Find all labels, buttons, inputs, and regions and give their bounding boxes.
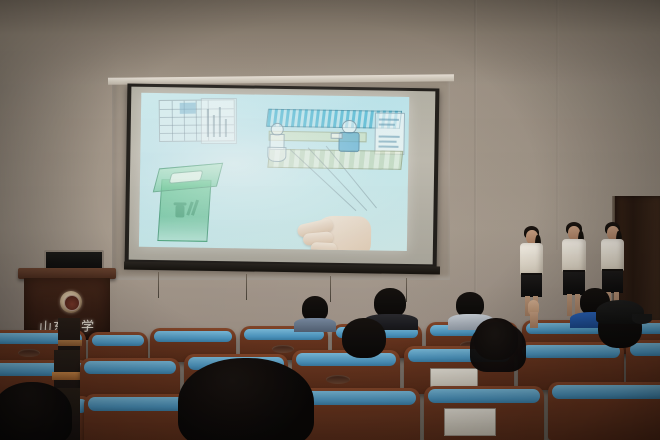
audience-member-with-cap xyxy=(592,300,650,350)
seat-row-near[interactable] xyxy=(548,382,660,440)
seat-plate xyxy=(326,375,350,384)
seat-plate xyxy=(18,349,40,357)
seat-cushion xyxy=(552,385,660,399)
presenter-leg xyxy=(567,294,572,316)
audience-head xyxy=(342,318,386,358)
tally-chart-sketch xyxy=(201,98,237,144)
customer-figure xyxy=(266,123,287,167)
presenter-shirt xyxy=(520,243,543,275)
university-crest-icon xyxy=(60,291,82,313)
market-stall-sketch xyxy=(262,105,409,179)
foreground-audience-head xyxy=(178,358,314,440)
seat-number-card xyxy=(444,408,496,436)
ceiling-shadow xyxy=(0,0,660,86)
desk-edge xyxy=(58,340,82,346)
presenter-shirt xyxy=(562,239,586,272)
audience-shoulders xyxy=(294,318,336,332)
vendor-figure xyxy=(336,120,363,160)
note-tab xyxy=(180,103,196,114)
seat-cushion xyxy=(84,361,176,374)
projected-slide xyxy=(139,93,409,251)
foreground-audience-head xyxy=(0,382,72,440)
seat-cushion xyxy=(428,389,540,403)
shop-poster xyxy=(374,112,405,154)
screen-cord xyxy=(158,272,159,298)
lecture-hall-photo: 山东大学 xyxy=(0,0,660,440)
screen-cord xyxy=(246,274,247,300)
seat-row-near[interactable] xyxy=(300,388,420,440)
audience-member xyxy=(336,318,392,364)
desk-edge xyxy=(52,372,82,380)
audience-raised-hand xyxy=(524,300,544,326)
crest-inner xyxy=(64,295,80,311)
seat-plate xyxy=(272,345,294,353)
seat-row-near[interactable] xyxy=(424,386,544,440)
wall-seam-secondary xyxy=(556,0,559,250)
seat-cushion xyxy=(304,391,416,405)
recycling-bin-sketch xyxy=(155,161,224,240)
presenter-skirt xyxy=(521,275,542,297)
wall-seam xyxy=(474,0,477,300)
presenter-hand xyxy=(289,203,368,251)
presenter-shirt xyxy=(601,239,624,271)
seat-cushion xyxy=(92,335,144,346)
projection-screen xyxy=(125,84,440,271)
seat-cushion xyxy=(154,331,232,342)
cap-brim xyxy=(632,314,652,324)
audience-member xyxy=(298,296,332,330)
foreground-audience-head xyxy=(470,322,526,372)
